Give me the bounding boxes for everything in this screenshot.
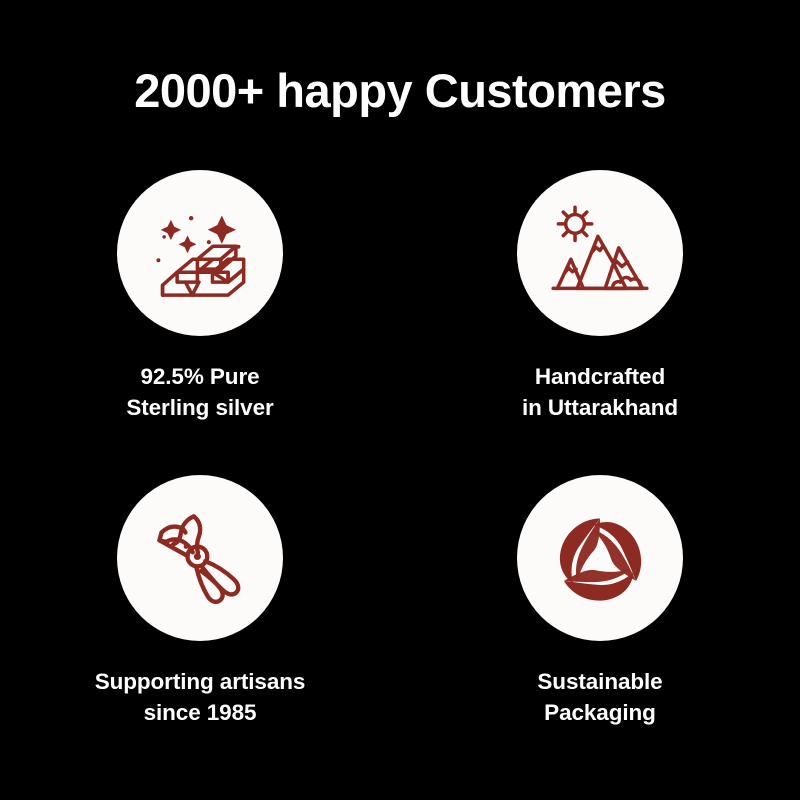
feature-caption: 92.5% Pure Sterling silver bbox=[126, 361, 273, 423]
feature-caption: Handcrafted in Uttarakhand bbox=[522, 361, 678, 423]
feature-icon-badge bbox=[117, 475, 283, 641]
feature-item-sterling-silver: 92.5% Pure Sterling silver bbox=[0, 170, 400, 475]
feature-caption: Supporting artisans since 1985 bbox=[95, 666, 306, 728]
three-leaves-recycle-icon bbox=[548, 506, 652, 610]
feature-caption: Sustainable Packaging bbox=[537, 666, 662, 728]
feature-grid: 92.5% Pure Sterling silver bbox=[0, 170, 800, 780]
page-title: 2000+ happy Customers bbox=[0, 62, 800, 120]
feature-icon-badge bbox=[117, 170, 283, 336]
feature-caption-line2: Sterling silver bbox=[126, 392, 273, 423]
feature-caption-line1: Sustainable bbox=[537, 669, 662, 694]
feature-caption-line1: Supporting artisans bbox=[95, 669, 306, 694]
pliers-tool-icon bbox=[148, 506, 252, 610]
feature-item-handcrafted: Handcrafted in Uttarakhand bbox=[400, 170, 800, 475]
feature-caption-line1: Handcrafted bbox=[535, 364, 665, 389]
feature-caption-line1: 92.5% Pure bbox=[140, 364, 259, 389]
feature-icon-badge bbox=[517, 170, 683, 336]
silver-bars-icon bbox=[148, 201, 252, 305]
feature-caption-line2: Packaging bbox=[537, 697, 662, 728]
feature-item-supporting-artisans: Supporting artisans since 1985 bbox=[0, 475, 400, 780]
promo-banner: 2000+ happy Customers bbox=[0, 0, 800, 800]
feature-item-sustainable-packaging: Sustainable Packaging bbox=[400, 475, 800, 780]
feature-caption-line2: since 1985 bbox=[95, 697, 306, 728]
mountains-sun-icon bbox=[548, 201, 652, 305]
feature-caption-line2: in Uttarakhand bbox=[522, 392, 678, 423]
feature-icon-badge bbox=[517, 475, 683, 641]
